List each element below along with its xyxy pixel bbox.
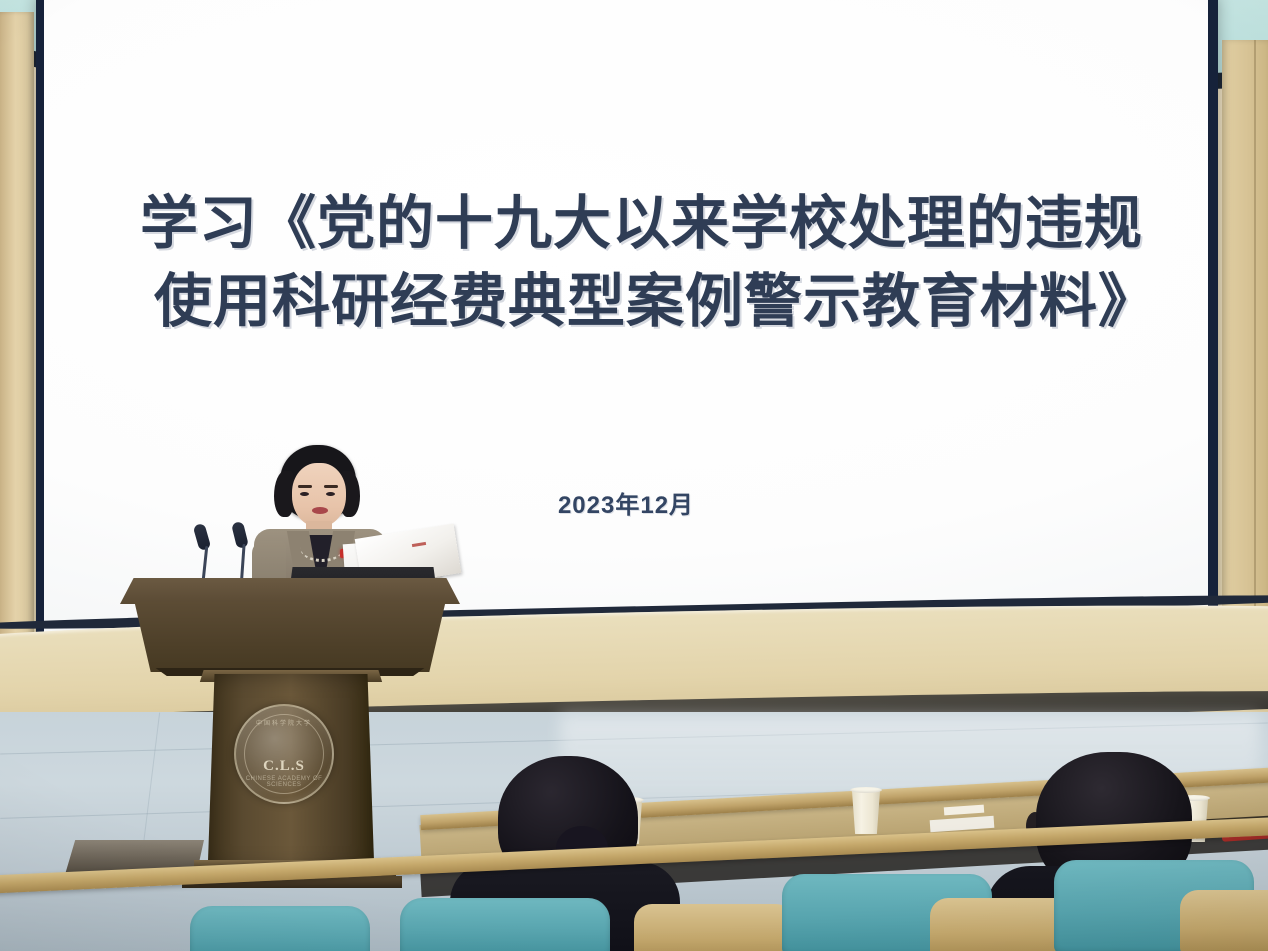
paper-cup-rim (850, 787, 882, 793)
auditorium-chair (400, 898, 610, 951)
speaker-figure (236, 445, 436, 595)
slide-title-line-2: 使用科研经费典型案例警示教育材料》 (140, 263, 1140, 341)
slide-title-line-1: 学习《党的十九大以来学校处理的违规 (140, 191, 1143, 256)
paper-cup-center (850, 790, 882, 834)
speaker-necklace (300, 533, 344, 562)
speaker-mouth (312, 507, 328, 514)
slide-date: 2023年12月 (44, 485, 1208, 520)
slide-title: 学习《党的十九大以来学校处理的违规 使用科研经费典型案例警示教育材料》 (140, 185, 1140, 341)
left-wall-panel (0, 12, 34, 702)
seal-arc-text: 中国科学院大学 (236, 718, 332, 727)
institution-seal: 中国科学院大学 C.L.S CHINESE ACADEMY OF SCIENCE… (234, 704, 334, 804)
seal-subtext: CHINESE ACADEMY OF SCIENCES (236, 776, 332, 788)
projection-screen-frame: 学习《党的十九大以来学校处理的违规 使用科研经费典型案例警示教育材料》 2023… (36, 0, 1218, 672)
auditorium-chair-wood-back (1180, 890, 1268, 951)
podium-column: 中国科学院大学 C.L.S CHINESE ACADEMY OF SCIENCE… (206, 674, 376, 870)
speaker-hair-left (274, 471, 294, 517)
seal-acronym: C.L.S (236, 758, 332, 775)
podium-front-panel (128, 602, 452, 672)
auditorium-chair (190, 906, 370, 951)
photo-scene: 学习《党的十九大以来学校处理的违规 使用科研经费典型案例警示教育材料》 2023… (0, 0, 1268, 951)
auditorium-chair-wood-back (634, 904, 794, 951)
projection-screen: 学习《党的十九大以来学校处理的违规 使用科研经费典型案例警示教育材料》 2023… (44, 0, 1208, 663)
podium-desktop (120, 578, 460, 604)
